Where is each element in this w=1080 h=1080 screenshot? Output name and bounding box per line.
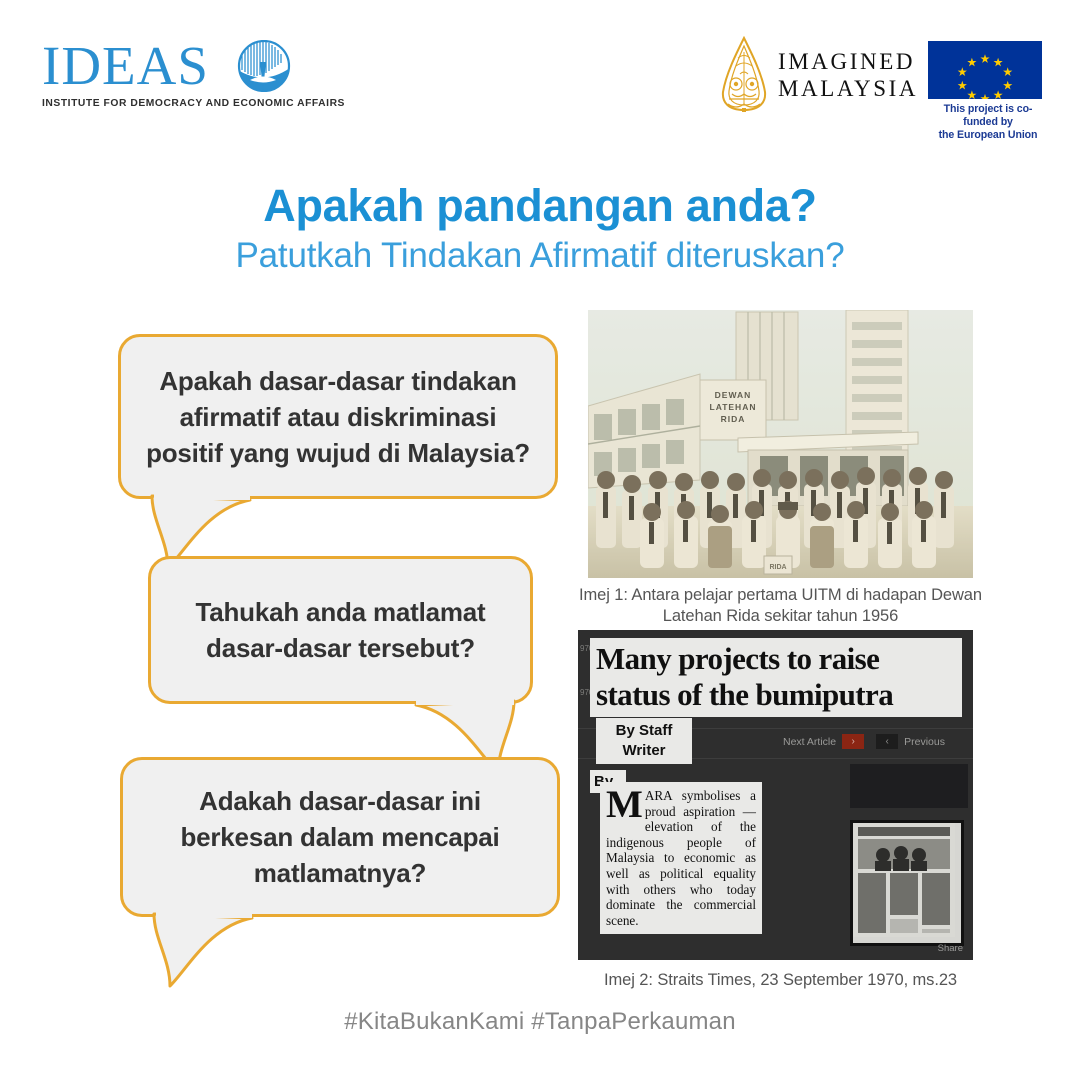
np-byline: By Staff Writer [596, 718, 692, 764]
eu-caption-line-1: This project is co-funded by [928, 103, 1048, 129]
photo-1-caption: Imej 1: Antara pelajar pertama UITM di h… [578, 585, 983, 627]
np-byline-line-1: By Staff [600, 721, 688, 741]
np-dropcap: M [606, 789, 645, 820]
np-previous-article-label[interactable]: Previous [904, 736, 945, 748]
question-bubble-2: Tahukah anda matlamat dasar-dasar terseb… [148, 556, 533, 704]
question-bubble-1: Apakah dasar-dasar tindakan afirmatif at… [118, 334, 558, 499]
bubble-body: Apakah dasar-dasar tindakan afirmatif at… [118, 334, 558, 499]
ideas-logo: IDEAS [42, 38, 342, 118]
dove-in-circle-icon [236, 40, 292, 92]
imagined-malaysia-logo: IMAGINED MALAYSIA [716, 36, 906, 116]
photo-2-caption: Imej 2: Straits Times, 23 September 1970… [578, 970, 983, 991]
imagined-malaysia-wordmark: IMAGINED MALAYSIA [778, 48, 918, 102]
np-headline-line-1: Many projects to raise [596, 641, 958, 677]
footer-hashtags: #KitaBukanKami #TanpaPerkauman [0, 1008, 1080, 1036]
np-dark-panel [850, 764, 968, 808]
page-subtitle: Patutkah Tindakan Afirmatif diteruskan? [0, 234, 1080, 278]
page-title: Apakah pandangan anda? [0, 180, 1080, 232]
bubble-body: Adakah dasar-dasar ini berkesan dalam me… [120, 757, 560, 917]
question-bubble-3: Adakah dasar-dasar ini berkesan dalam me… [120, 757, 560, 917]
historic-group-photo: DEWAN LATEHAN RIDA [588, 310, 973, 578]
np-byline-line-2: Writer [600, 741, 688, 761]
bubble-tail-icon [148, 912, 278, 990]
np-headline-line-2: status of the bumiputra [596, 677, 958, 713]
np-headline: Many projects to raise status of the bum… [590, 638, 962, 717]
np-page-thumbnail[interactable] [850, 820, 964, 946]
eu-funding-caption: This project is co-funded by the Europea… [928, 103, 1048, 142]
title-block: Apakah pandangan anda? Patutkah Tindakan… [0, 180, 1080, 278]
gunungan-ornament-icon [716, 36, 772, 114]
ideas-tagline: INSTITUTE FOR DEMOCRACY AND ECONOMIC AFF… [42, 98, 342, 109]
bubble-text: Adakah dasar-dasar ini berkesan dalam me… [123, 783, 557, 891]
np-next-article-label[interactable]: Next Article [783, 736, 836, 748]
np-prev-arrow-icon[interactable]: ‹ [876, 734, 898, 749]
np-next-arrow-icon[interactable]: › [842, 734, 864, 749]
np-share-label[interactable]: Share [938, 943, 963, 954]
bubble-body: Tahukah anda matlamat dasar-dasar terseb… [148, 556, 533, 704]
np-article-body: MARA symbolises a proud aspiration — ele… [600, 782, 762, 934]
eu-flag-icon [928, 41, 1042, 99]
newspaper-clipping-screenshot: 970 970 Next Article › ‹ Previous [578, 630, 973, 960]
eu-caption-line-2: the European Union [928, 129, 1048, 142]
header: IDEAS [0, 0, 1080, 150]
eu-funding-block: This project is co-funded by the Europea… [928, 41, 1048, 142]
bubble-text: Apakah dasar-dasar tindakan afirmatif at… [121, 363, 555, 471]
np-article-nav[interactable]: Next Article › ‹ Previous [783, 734, 945, 749]
im-line-2: MALAYSIA [778, 75, 918, 102]
ideas-wordmark: IDEAS [42, 38, 342, 95]
im-line-1: IMAGINED [778, 48, 918, 75]
bubble-text: Tahukah anda matlamat dasar-dasar terseb… [151, 594, 530, 666]
